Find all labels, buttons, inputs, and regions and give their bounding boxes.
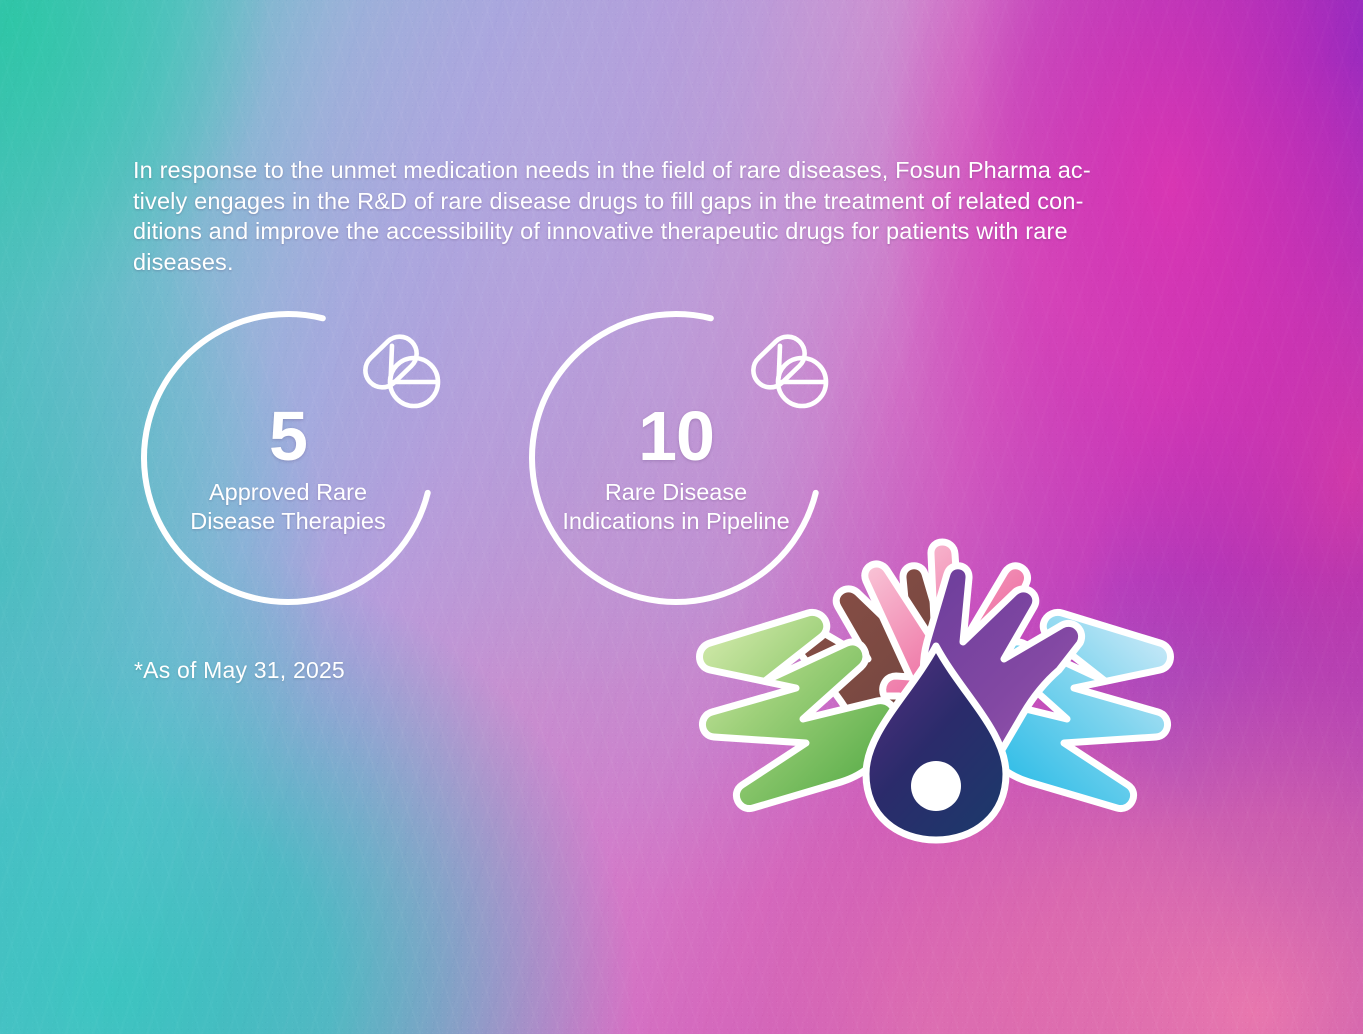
stat-card-approved-therapies: 5 Approved Rare Disease Therapies <box>138 308 438 608</box>
rare-disease-hands-logo <box>688 528 1184 928</box>
stat-label: Rare Disease Indications in Pipeline <box>504 478 848 536</box>
pills-icon <box>746 334 832 412</box>
stat-text-block: 10 Rare Disease Indications in Pipeline <box>504 403 848 536</box>
stat-number: 5 <box>116 403 460 470</box>
footnote-as-of-date: *As of May 31, 2025 <box>134 657 345 684</box>
pills-icon <box>358 334 444 412</box>
stat-text-block: 5 Approved Rare Disease Therapies <box>116 403 460 536</box>
stat-label: Approved Rare Disease Therapies <box>116 478 460 536</box>
infographic-canvas: In response to the unmet medication need… <box>0 0 1363 1034</box>
stat-number: 10 <box>504 403 848 470</box>
intro-paragraph: In response to the unmet medication need… <box>133 155 1173 277</box>
center-dot <box>911 761 961 811</box>
